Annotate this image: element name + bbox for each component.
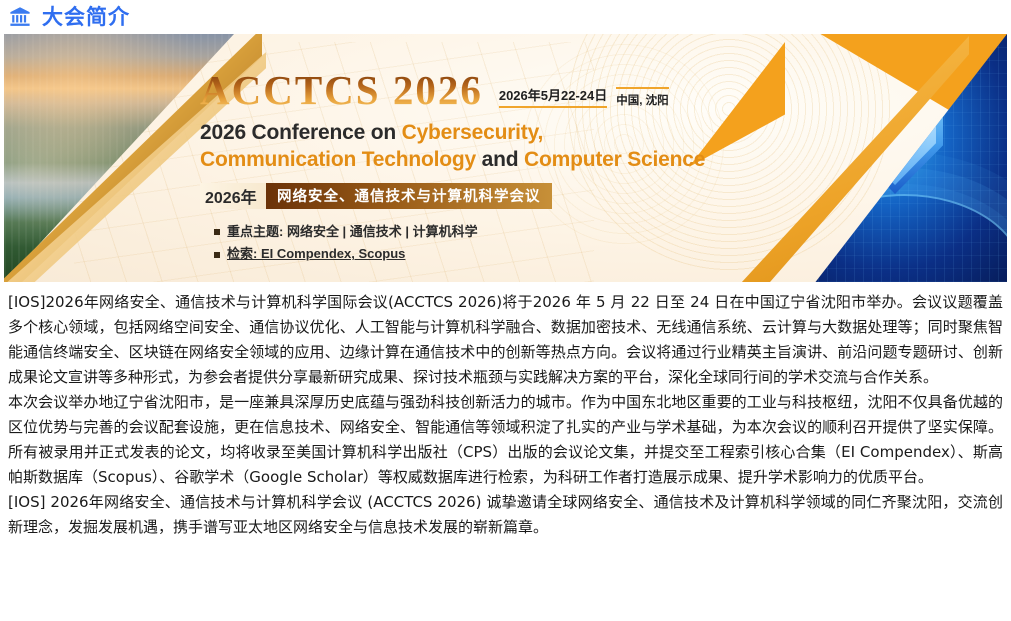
banner-bullets: 重点主题: 网络安全 | 通信技术 | 计算机科学 检索: EI Compend… xyxy=(200,221,840,267)
conference-english-title: 2026 Conference on Cybersecurity, Commun… xyxy=(200,119,840,174)
section-header: 大会简介 xyxy=(0,0,1011,30)
chinese-title-bar: 2026年 网络安全、通信技术与计算机科学会议 xyxy=(200,183,552,209)
title-line2-highlight-a: Communication Technology xyxy=(200,148,482,171)
title-line1-plain: 2026 Conference on xyxy=(200,121,402,144)
square-bullet-icon xyxy=(214,252,220,258)
conference-date: 2026年5月22-24日 xyxy=(499,85,607,108)
title-line1-highlight: Cybersecurity, xyxy=(402,121,544,144)
paragraph-1: [IOS]2026年网络安全、通信技术与计算机科学国际会议(ACCTCS 202… xyxy=(8,290,1003,390)
paragraph-3: [IOS] 2026年网络安全、通信技术与计算机科学会议 (ACCTCS 202… xyxy=(8,490,1003,540)
square-bullet-icon xyxy=(214,229,220,235)
bullet-indexing: 检索: EI Compendex, Scopus xyxy=(214,243,840,266)
bullet-indexing-label: 检索: EI Compendex, Scopus xyxy=(227,243,405,266)
bullet-topics-label: 重点主题: 网络安全 | 通信技术 | 计算机科学 xyxy=(227,221,478,244)
page-title: 大会简介 xyxy=(42,7,130,28)
conference-chinese-title: 网络安全、通信技术与计算机科学会议 xyxy=(266,183,552,209)
acronym-row: ACCTCS 2026 2026年5月22-24日 中国, 沈阳 xyxy=(200,70,840,111)
bank-icon xyxy=(8,5,32,29)
title-line2-plain: and xyxy=(482,148,524,171)
date-location-block: 2026年5月22-24日 中国, 沈阳 xyxy=(499,85,669,111)
banner-text-block: ACCTCS 2026 2026年5月22-24日 中国, 沈阳 2026 Co… xyxy=(200,70,840,266)
conference-acronym: ACCTCS 2026 xyxy=(200,70,483,111)
paragraph-2: 本次会议举办地辽宁省沈阳市，是一座兼具深厚历史底蕴与强劲科技创新活力的城市。作为… xyxy=(8,390,1003,490)
conference-location: 中国, 沈阳 xyxy=(616,87,668,108)
bullet-topics: 重点主题: 网络安全 | 通信技术 | 计算机科学 xyxy=(214,221,840,244)
year-tag: 2026年 xyxy=(200,183,266,209)
conference-description: [IOS]2026年网络安全、通信技术与计算机科学国际会议(ACCTCS 202… xyxy=(0,282,1011,540)
title-line2-highlight-b: Computer Science xyxy=(524,148,705,171)
conference-banner: ACCTCS 2026 2026年5月22-24日 中国, 沈阳 2026 Co… xyxy=(4,34,1007,282)
